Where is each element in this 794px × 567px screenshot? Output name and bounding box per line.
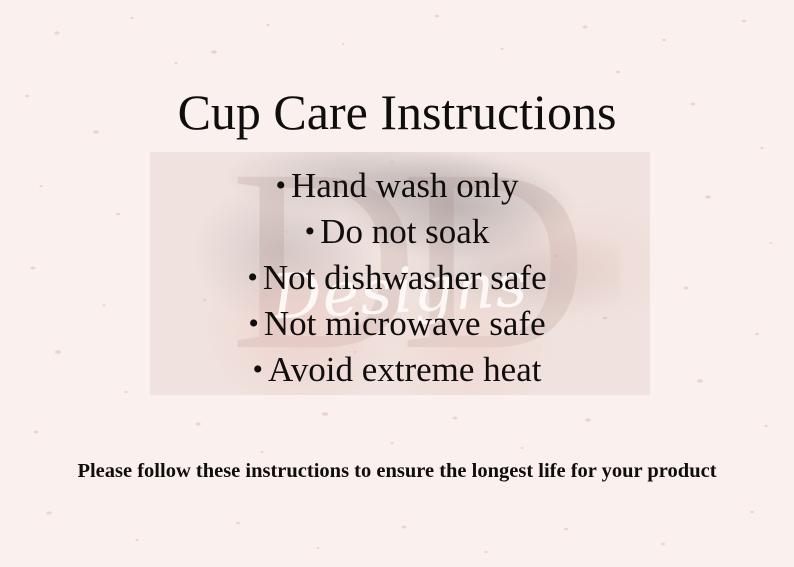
footer-note: Please follow these instructions to ensu… <box>77 457 717 486</box>
list-item: •Do not soak <box>0 209 794 255</box>
list-item-label: Do not soak <box>320 212 489 251</box>
list-item: •Hand wash only <box>0 163 794 209</box>
list-item-label: Not dishwasher safe <box>263 258 547 297</box>
bullet-icon: • <box>253 353 269 386</box>
bullet-icon: • <box>305 215 321 248</box>
bullet-icon: • <box>248 307 264 340</box>
list-item-label: Hand wash only <box>291 166 518 205</box>
bullet-icon: • <box>276 169 292 202</box>
page-title: Cup Care Instructions <box>0 84 794 140</box>
bullet-icon: • <box>247 261 263 294</box>
list-item: •Not dishwasher safe <box>0 255 794 301</box>
card-content: Cup Care Instructions •Hand wash only •D… <box>0 0 794 567</box>
list-item: •Avoid extreme heat <box>0 347 794 393</box>
list-item-label: Avoid extreme heat <box>268 350 541 389</box>
instructions-list: •Hand wash only •Do not soak •Not dishwa… <box>0 163 794 393</box>
list-item-label: Not microwave safe <box>264 304 546 343</box>
list-item: •Not microwave safe <box>0 301 794 347</box>
care-instructions-card: DD Designs <box>0 0 794 567</box>
